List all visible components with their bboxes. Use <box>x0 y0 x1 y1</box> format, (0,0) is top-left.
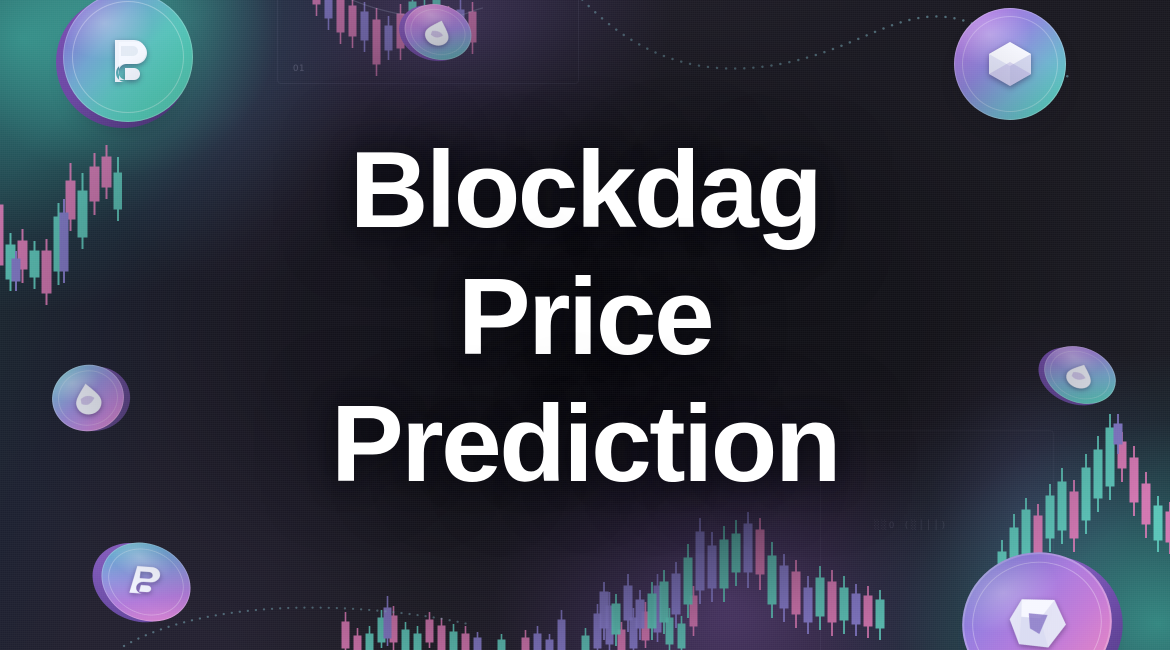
hex-mark-icon <box>954 8 1066 120</box>
price-prediction-hero-banner: O1 ░░O (░│││) <box>0 0 1170 650</box>
top-left-chart-panel-label: O1 <box>293 64 305 74</box>
coin-pentagon-bottom-right <box>949 538 1125 650</box>
page-title-line-3: Prediction <box>0 381 1170 508</box>
coin-hex-top-right <box>954 8 1066 120</box>
coin-blockdag-b-large <box>63 0 193 122</box>
bottom-right-readout-label: ░░O (░│││) <box>874 521 948 531</box>
b-mark-icon <box>63 0 193 122</box>
page-title: Blockdag Price Prediction <box>0 127 1170 508</box>
b-italic-mark-icon <box>98 539 193 624</box>
candles-bottom-left-mixed <box>340 556 710 650</box>
d-mark-icon <box>949 538 1125 650</box>
coin-b-bottom-left <box>88 528 204 636</box>
page-title-line-1: Blockdag <box>0 127 1170 254</box>
page-title-line-2: Price <box>0 254 1170 381</box>
droplet-mark-icon <box>397 0 478 68</box>
coin-droplet-top <box>397 0 478 68</box>
